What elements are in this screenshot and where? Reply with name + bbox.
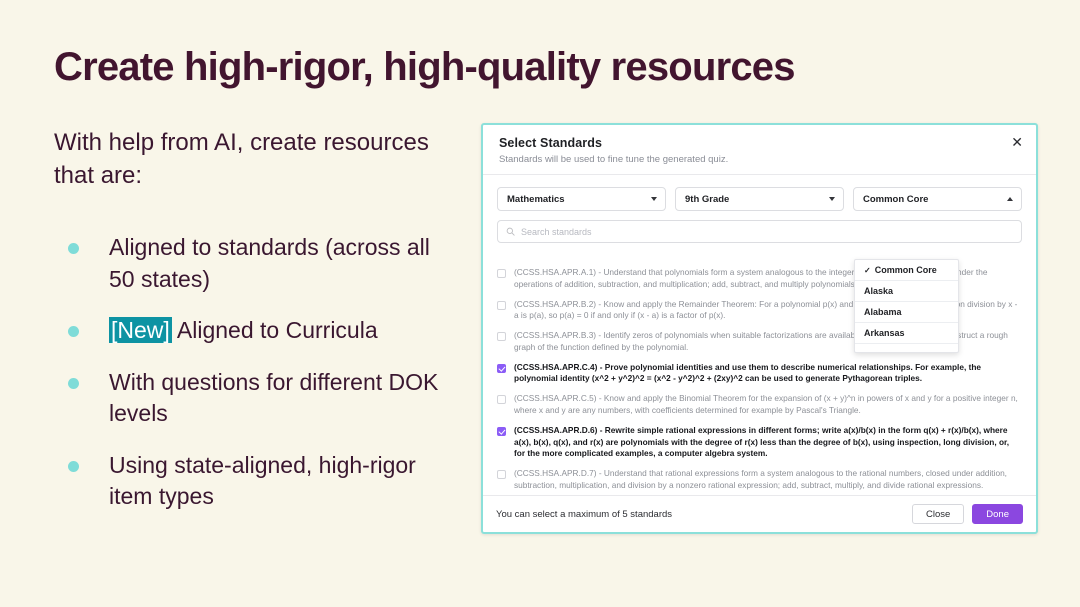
dialog-subtitle: Standards will be used to fine tune the … — [499, 154, 1020, 165]
check-icon: ✓ — [864, 266, 871, 275]
standard-checkbox[interactable] — [497, 364, 506, 373]
standard-row[interactable]: (CCSS.HSA.APR.D.6) - Rewrite simple rati… — [497, 425, 1022, 460]
standard-checkbox[interactable] — [497, 470, 506, 479]
bullet-list: Aligned to standards (across all 50 stat… — [54, 232, 454, 533]
list-item: Using state-aligned, high-rigor item typ… — [54, 450, 454, 513]
selection-limit-note: You can select a maximum of 5 standards — [496, 509, 672, 520]
bullet-dot-icon — [68, 326, 79, 337]
close-button[interactable]: Close — [912, 504, 964, 524]
standard-set-select-value: Common Core — [863, 194, 928, 205]
list-item: Aligned to standards (across all 50 stat… — [54, 232, 454, 295]
bullet-text: [New] Aligned to Curricula — [109, 315, 378, 347]
dropdown-option-alabama[interactable]: Alabama — [855, 302, 958, 323]
dialog-title: Select Standards — [499, 136, 1020, 150]
list-item: [New] Aligned to Curricula — [54, 315, 454, 347]
standard-set-select[interactable]: Common Core — [853, 187, 1022, 211]
footer-actions: Close Done — [912, 504, 1023, 524]
standard-row[interactable]: (CCSS.HSA.APR.D.7) - Understand that rat… — [497, 468, 1022, 492]
dropdown-option-label: Alabama — [864, 307, 902, 317]
standard-label: (CCSS.HSA.APR.C.4) - Prove polynomial id… — [514, 362, 1022, 386]
subject-select[interactable]: Mathematics — [497, 187, 666, 211]
subject-select-value: Mathematics — [507, 194, 565, 205]
dialog-header: Select Standards Standards will be used … — [483, 125, 1036, 175]
bullet-dot-icon — [68, 461, 79, 472]
chevron-down-icon — [651, 197, 657, 201]
search-input[interactable] — [521, 227, 1013, 237]
standard-label: (CCSS.HSA.APR.D.7) - Understand that rat… — [514, 468, 1022, 492]
done-button[interactable]: Done — [972, 504, 1023, 524]
list-item: With questions for different DOK levels — [54, 367, 454, 430]
grade-select[interactable]: 9th Grade — [675, 187, 844, 211]
bullet-text: Using state-aligned, high-rigor item typ… — [109, 450, 454, 513]
dropdown-option-arkansas[interactable]: Arkansas — [855, 323, 958, 344]
chevron-up-icon — [1007, 197, 1013, 201]
dropdown-option-label: Arkansas — [864, 328, 905, 338]
search-bar[interactable] — [497, 220, 1022, 243]
bullet-dot-icon — [68, 378, 79, 389]
select-standards-dialog: Select Standards Standards will be used … — [481, 123, 1038, 534]
standard-checkbox[interactable] — [497, 427, 506, 436]
lead-paragraph: With help from AI, create resources that… — [54, 126, 434, 192]
page-title: Create high-rigor, high-quality resource… — [54, 44, 954, 90]
dropdown-option-common-core[interactable]: ✓ Common Core — [855, 260, 958, 281]
close-icon[interactable]: ✕ — [1011, 135, 1023, 149]
bullet-text: With questions for different DOK levels — [109, 367, 454, 430]
standard-row[interactable]: (CCSS.HSA.APR.C.5) - Know and apply the … — [497, 393, 1022, 417]
bullet-dot-icon — [68, 243, 79, 254]
search-icon — [506, 223, 515, 241]
filter-row: Mathematics 9th Grade Common Core — [483, 175, 1036, 211]
dialog-footer: You can select a maximum of 5 standards … — [483, 495, 1036, 532]
standard-checkbox[interactable] — [497, 269, 506, 278]
bullet-text-rest: Aligned to Curricula — [172, 317, 378, 343]
chevron-down-icon — [829, 197, 835, 201]
standard-set-dropdown-menu: ✓ Common Core Alaska Alabama Arkansas — [854, 259, 959, 353]
slide-canvas: Create high-rigor, high-quality resource… — [0, 0, 1080, 607]
dialog-body: Mathematics 9th Grade Common Core — [483, 175, 1036, 495]
dropdown-option-label: Common Core — [875, 265, 937, 275]
new-badge: [New] — [109, 317, 172, 343]
standard-checkbox[interactable] — [497, 332, 506, 341]
dropdown-option-alaska[interactable]: Alaska — [855, 281, 958, 302]
standard-label: (CCSS.HSA.APR.C.5) - Know and apply the … — [514, 393, 1022, 417]
dropdown-option-label: Alaska — [864, 286, 893, 296]
bullet-text: Aligned to standards (across all 50 stat… — [109, 232, 454, 295]
standard-checkbox[interactable] — [497, 395, 506, 404]
grade-select-value: 9th Grade — [685, 194, 729, 205]
standard-checkbox[interactable] — [497, 301, 506, 310]
standard-label: (CCSS.HSA.APR.D.6) - Rewrite simple rati… — [514, 425, 1022, 460]
standard-row[interactable]: (CCSS.HSA.APR.C.4) - Prove polynomial id… — [497, 362, 1022, 386]
